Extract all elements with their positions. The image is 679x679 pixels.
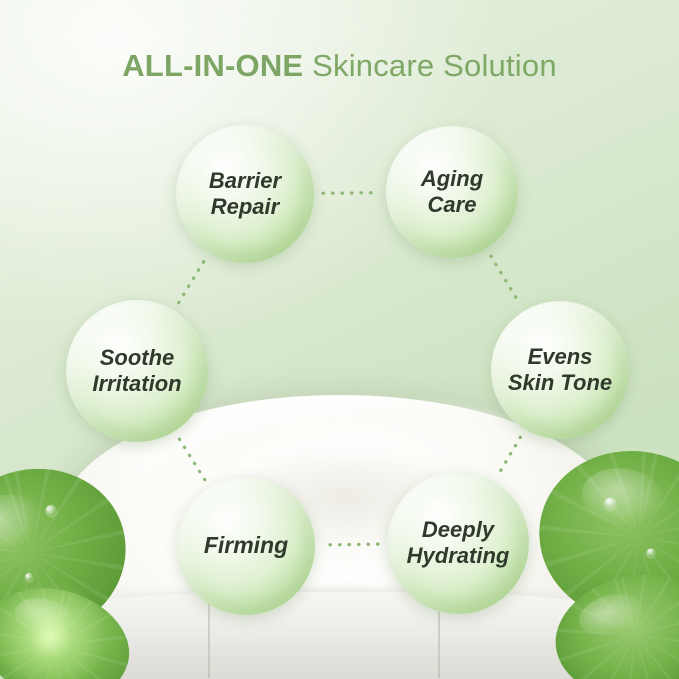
benefit-bubble-barrier-repair: BarrierRepair: [176, 125, 314, 263]
jar-seam-left: [208, 600, 210, 678]
benefit-bubble-firming: Firming: [177, 477, 315, 615]
light-flare: [0, 582, 110, 679]
benefit-label: BarrierRepair: [201, 168, 289, 220]
benefit-label: EvensSkin Tone: [500, 344, 620, 396]
benefit-label: DeeplyHydrating: [399, 517, 518, 569]
benefit-label: Firming: [196, 532, 296, 559]
page-title-emphasis: ALL-IN-ONE: [122, 48, 303, 83]
benefit-label-line2: Care: [413, 192, 491, 218]
benefit-label-line1: Barrier: [201, 168, 289, 194]
benefit-label-line1: Evens: [500, 344, 620, 370]
benefit-label-line1: Soothe: [84, 345, 189, 371]
benefit-label: AgingCare: [413, 166, 491, 218]
benefit-label-line1: Deeply: [399, 517, 518, 543]
benefit-label-line2: Repair: [201, 194, 289, 220]
benefit-label-line2: Skin Tone: [500, 370, 620, 396]
page-title-rest: Skincare Solution: [303, 48, 556, 83]
benefit-bubble-soothe-irritation: SootheIrritation: [66, 300, 208, 442]
product-infographic: ALL-IN-ONE Skincare Solution BarrierRepa…: [0, 0, 679, 679]
jar-rim: [42, 592, 638, 679]
benefit-label-line1: Firming: [196, 532, 296, 559]
benefit-label-line1: Aging: [413, 166, 491, 192]
page-title: ALL-IN-ONE Skincare Solution: [0, 48, 679, 84]
benefit-bubble-evens-skin-tone: EvensSkin Tone: [491, 301, 629, 439]
benefit-label: SootheIrritation: [84, 345, 189, 397]
benefit-label-line2: Hydrating: [399, 543, 518, 569]
benefit-bubble-deeply-hydrating: DeeplyHydrating: [387, 472, 529, 614]
benefit-bubble-aging-care: AgingCare: [386, 126, 518, 258]
benefit-label-line2: Irritation: [84, 371, 189, 397]
